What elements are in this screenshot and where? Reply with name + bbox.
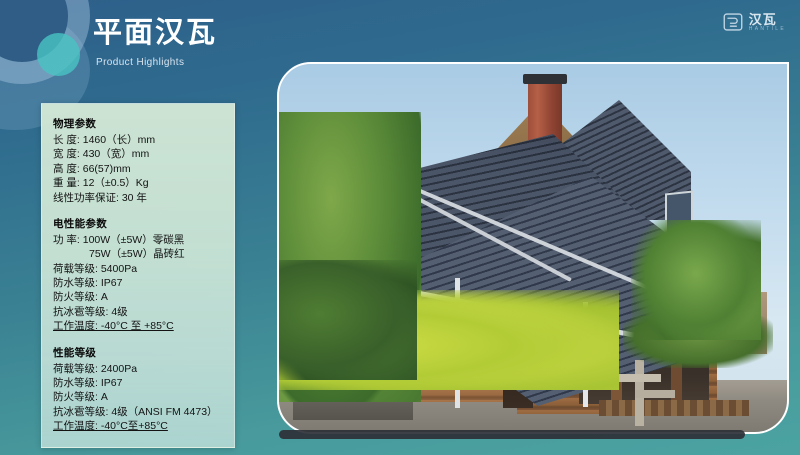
spec-line: 工作温度: -40°C 至 +85°C [53, 319, 226, 333]
spec-line: 重 量: 12（±0.5）Kg [53, 176, 226, 190]
slide-canvas: 平面汉瓦 Product Highlights 汉瓦 HANTILE 物理参数 … [0, 0, 800, 455]
spec-panel: 物理参数 长 度: 1460（长）mm 宽 度: 430（宽）mm 高 度: 6… [41, 103, 235, 448]
spec-line: 长 度: 1460（长）mm [53, 133, 226, 147]
spec-group-heading: 性能等级 [53, 345, 226, 360]
spec-line: 抗冰雹等级: 4级（ANSI FM 4473） [53, 405, 226, 419]
spec-line: 高 度: 66(57)mm [53, 162, 226, 176]
spec-line: 宽 度: 430（宽）mm [53, 147, 226, 161]
spec-group-heading: 电性能参数 [53, 216, 226, 231]
spec-line: 荷载等级: 5400Pa [53, 262, 226, 276]
photo-drop-shadow-bar [279, 430, 745, 439]
photo-tree-right [631, 220, 761, 340]
page-subtitle: Product Highlights [96, 57, 217, 68]
spec-line: 防水等级: IP67 [53, 376, 226, 390]
photo-signpost-arm [619, 374, 661, 382]
spec-line: 工作温度: -40°C至+85°C [53, 419, 226, 433]
spec-line: 抗冰雹等级: 4级 [53, 305, 226, 319]
hantile-mark-icon [723, 12, 743, 32]
spec-line: 防火等级: A [53, 290, 226, 304]
title-block: 平面汉瓦 Product Highlights [93, 18, 217, 68]
spec-group-physical: 物理参数 长 度: 1460（长）mm 宽 度: 430（宽）mm 高 度: 6… [53, 116, 226, 205]
photo-signpost-arm [635, 390, 675, 398]
photo-fence [599, 400, 749, 416]
spec-group-performance: 性能等级 荷载等级: 2400Pa 防水等级: IP67 防火等级: A 抗冰雹… [53, 345, 226, 434]
brand-name-cn: 汉瓦 [749, 13, 786, 26]
spec-line: 线性功率保证: 30 年 [53, 191, 226, 205]
spec-line: 防火等级: A [53, 390, 226, 404]
spec-line: 荷载等级: 2400Pa [53, 362, 226, 376]
decorative-teal-dot [37, 33, 80, 76]
brand-text: 汉瓦 HANTILE [749, 13, 786, 32]
spec-group-electrical: 电性能参数 功 率: 100W（±5W）零碳黑 75W（±5W）晶砖红 荷载等级… [53, 216, 226, 334]
product-photo [277, 62, 789, 434]
photo-green-shrub [277, 260, 417, 380]
spec-group-heading: 物理参数 [53, 116, 226, 131]
spec-line: 功 率: 100W（±5W）零碳黑 [53, 233, 226, 247]
spec-line: 75W（±5W）晶砖红 [53, 247, 226, 261]
brand-name-en: HANTILE [749, 27, 786, 32]
brand-logo: 汉瓦 HANTILE [723, 12, 786, 32]
page-title: 平面汉瓦 [93, 18, 217, 50]
spec-line: 防水等级: IP67 [53, 276, 226, 290]
photo-chimney-cap [523, 74, 567, 84]
